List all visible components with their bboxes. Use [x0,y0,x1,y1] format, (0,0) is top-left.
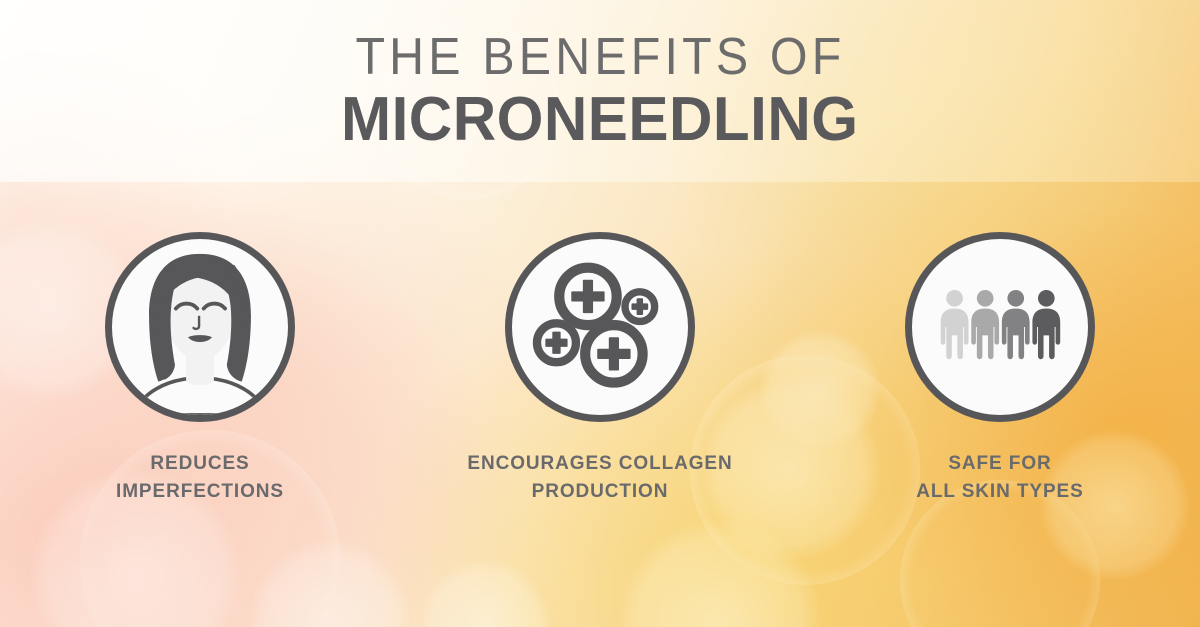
benefit-item-safe-all-skin-types: SAFE FOR ALL SKIN TYPES [800,182,1200,627]
header: THE BENEFITS OF MICRONEEDLING [0,0,1200,182]
benefit-item-encourages-collagen: ENCOURAGES COLLAGEN PRODUCTION [400,182,800,627]
benefit-caption: SAFE FOR ALL SKIN TYPES [916,450,1083,505]
benefit-caption: ENCOURAGES COLLAGEN PRODUCTION [467,450,732,505]
infographic-canvas: THE BENEFITS OF MICRONEEDLING [0,0,1200,627]
benefit-item-reduces-imperfections: REDUCES IMPERFECTIONS [0,182,400,627]
benefit-caption: REDUCES IMPERFECTIONS [116,450,284,505]
benefits-row: REDUCES IMPERFECTIONS [0,182,1200,627]
woman-face-icon [105,232,295,422]
people-skin-types-icon [905,232,1095,422]
page-title-line1: THE BENEFITS OF [355,31,845,83]
page-title-line2: MICRONEEDLING [341,89,858,151]
collagen-cells-icon [505,232,695,422]
